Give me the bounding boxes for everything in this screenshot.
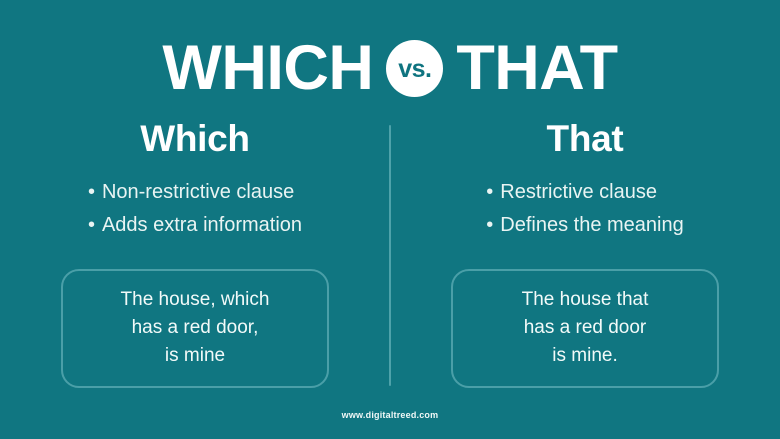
bullet-text: Defines the meaning bbox=[500, 211, 683, 239]
list-item: • Defines the meaning bbox=[486, 211, 683, 239]
title-word-that: THAT bbox=[456, 37, 617, 100]
footer-website: www.digitaltreed.com bbox=[0, 410, 780, 420]
example-box-which: The house, which has a red door, is mine bbox=[61, 269, 329, 388]
page-title: WHICH vs. THAT bbox=[0, 29, 780, 107]
vs-badge-label: vs. bbox=[398, 57, 431, 82]
list-item: • Restrictive clause bbox=[486, 178, 683, 206]
bullet-dot-icon: • bbox=[88, 211, 102, 239]
comparison-columns: Which • Non-restrictive clause • Adds ex… bbox=[0, 120, 780, 388]
bullet-text: Adds extra information bbox=[102, 211, 302, 239]
bullet-dot-icon: • bbox=[88, 178, 102, 206]
bullet-text: Restrictive clause bbox=[500, 178, 657, 206]
example-line: The house, which bbox=[121, 286, 270, 314]
example-line: is mine. bbox=[552, 342, 617, 370]
list-item: • Non-restrictive clause bbox=[88, 178, 302, 206]
column-that: That • Restrictive clause • Defines the … bbox=[390, 120, 780, 388]
column-which: Which • Non-restrictive clause • Adds ex… bbox=[0, 120, 390, 388]
bullet-dot-icon: • bbox=[486, 178, 500, 206]
example-line: is mine bbox=[165, 342, 225, 370]
column-heading-which: Which bbox=[140, 120, 249, 157]
bullet-list-that: • Restrictive clause • Defines the meani… bbox=[486, 178, 683, 245]
title-word-which: WHICH bbox=[162, 37, 373, 100]
example-line: The house that bbox=[522, 286, 649, 314]
example-line: has a red door, bbox=[132, 314, 259, 342]
example-box-that: The house that has a red door is mine. bbox=[451, 269, 719, 388]
column-heading-that: That bbox=[547, 120, 624, 157]
list-item: • Adds extra information bbox=[88, 211, 302, 239]
bullet-dot-icon: • bbox=[486, 211, 500, 239]
bullet-list-which: • Non-restrictive clause • Adds extra in… bbox=[88, 178, 302, 245]
example-line: has a red door bbox=[524, 314, 647, 342]
bullet-text: Non-restrictive clause bbox=[102, 178, 294, 206]
infographic-canvas: WHICH vs. THAT Which • Non-restrictive c… bbox=[0, 0, 780, 439]
vs-badge: vs. bbox=[386, 40, 443, 97]
